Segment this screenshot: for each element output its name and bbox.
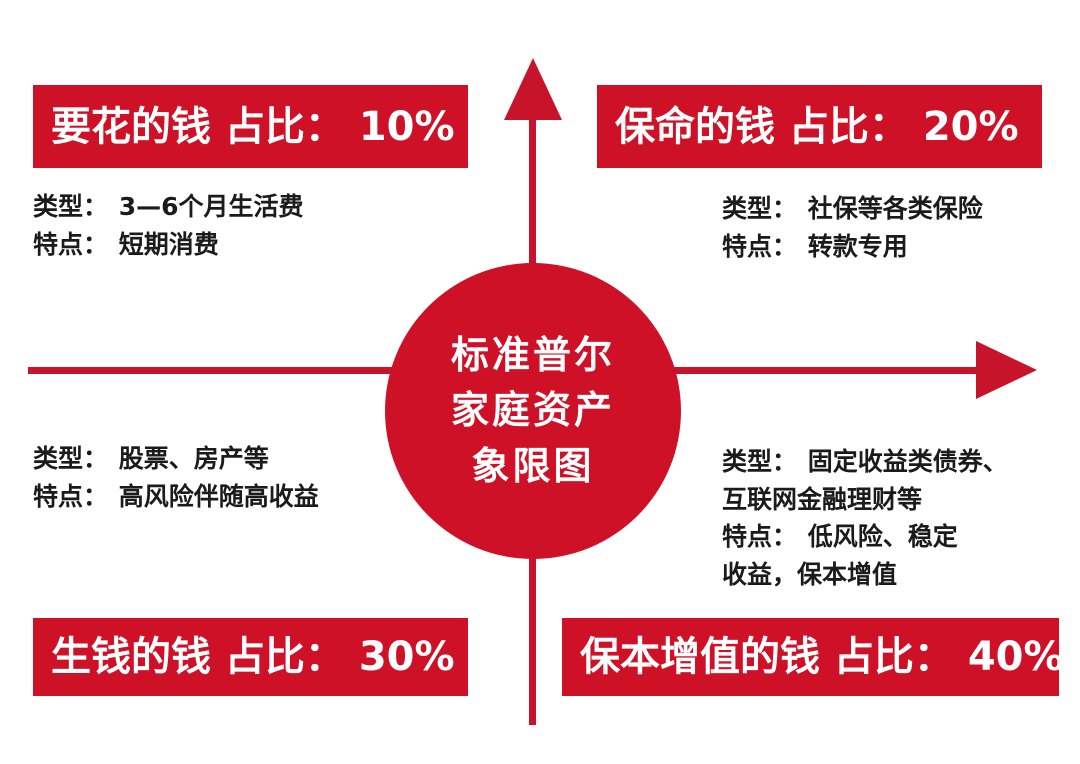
- detail-line: 特点： 低风险、稳定: [722, 518, 1008, 556]
- detail-label: 特点：: [722, 232, 797, 261]
- detail-value: 短期消费: [119, 230, 219, 259]
- detail-value: 3—6个月生活费: [119, 192, 304, 221]
- banner-top-right-label: 保命的钱 占比： 20%: [597, 107, 1037, 147]
- banner-top-right: 保命的钱 占比： 20%: [597, 85, 1042, 168]
- banner-bottom-left: 生钱的钱 占比： 30%: [33, 618, 468, 696]
- detail-line: 特点： 转款专用: [722, 228, 983, 266]
- detail-value: 高风险伴随高收益: [119, 482, 319, 511]
- detail-line: 收益，保本增值: [722, 556, 1008, 594]
- detail-value: 固定收益类债券、: [808, 447, 1008, 476]
- detail-label: 类型：: [33, 192, 108, 221]
- center-title-line-3: 象限图: [471, 439, 594, 494]
- banner-bottom-right: 保本增值的钱 占比： 40%: [562, 618, 1059, 696]
- detail-label: 特点：: [33, 230, 108, 259]
- detail-line: 特点： 短期消费: [33, 226, 304, 264]
- arrow-up-icon: [504, 58, 562, 120]
- detail-label: 特点：: [33, 482, 108, 511]
- detail-label: 类型：: [33, 444, 108, 473]
- center-circle: 标准普尔 家庭资产 象限图: [385, 263, 681, 559]
- detail-line: 类型： 股票、房产等: [33, 440, 319, 478]
- detail-value: 互联网金融理财等: [722, 485, 922, 514]
- details-bottom-left: 类型： 股票、房产等 特点： 高风险伴随高收益: [33, 440, 319, 515]
- detail-line: 类型： 固定收益类债券、: [722, 443, 1008, 481]
- center-title-line-2: 家庭资产: [451, 383, 615, 438]
- banner-top-left: 要花的钱 占比： 10%: [33, 85, 468, 168]
- detail-line: 特点： 高风险伴随高收益: [33, 478, 319, 516]
- center-title-line-1: 标准普尔: [451, 328, 615, 383]
- details-bottom-right: 类型： 固定收益类债券、 互联网金融理财等 特点： 低风险、稳定 收益，保本增值: [722, 443, 1008, 593]
- quadrant-diagram: 要花的钱 占比： 10% 类型： 3—6个月生活费 特点： 短期消费 保命的钱 …: [0, 0, 1080, 764]
- detail-value: 低风险、稳定: [808, 522, 958, 551]
- detail-value: 收益，保本增值: [722, 560, 897, 589]
- detail-line: 类型： 3—6个月生活费: [33, 188, 304, 226]
- detail-value: 股票、房产等: [119, 444, 269, 473]
- details-top-right: 类型： 社保等各类保险 特点： 转款专用: [722, 190, 983, 265]
- banner-top-left-label: 要花的钱 占比： 10%: [33, 107, 473, 147]
- detail-value: 转款专用: [808, 232, 908, 261]
- detail-value: 社保等各类保险: [808, 194, 983, 223]
- banner-bottom-right-label: 保本增值的钱 占比： 40%: [562, 637, 1080, 677]
- detail-label: 特点：: [722, 522, 797, 551]
- detail-line: 类型： 社保等各类保险: [722, 190, 983, 228]
- arrow-right-icon: [976, 341, 1037, 399]
- detail-label: 类型：: [722, 447, 797, 476]
- details-top-left: 类型： 3—6个月生活费 特点： 短期消费: [33, 188, 304, 263]
- detail-label: 类型：: [722, 194, 797, 223]
- detail-line: 互联网金融理财等: [722, 481, 1008, 519]
- banner-bottom-left-label: 生钱的钱 占比： 30%: [33, 637, 473, 677]
